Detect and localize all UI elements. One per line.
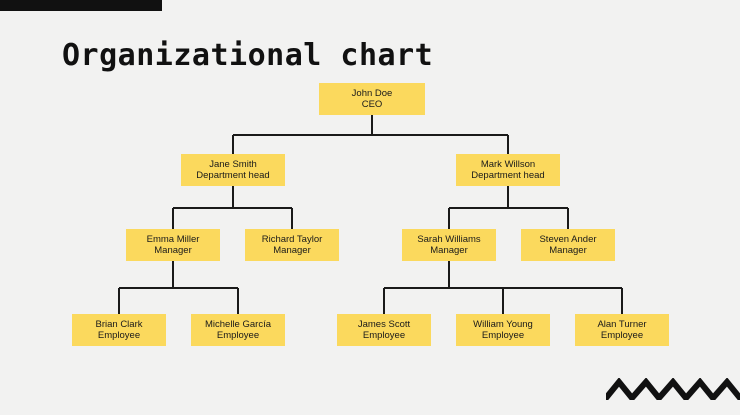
org-node-role: Manager [549,245,587,256]
connector-lines [0,0,740,415]
org-node-name: Sarah Williams [417,234,480,245]
org-node-ceo[interactable]: John DoeCEO [319,83,425,115]
org-node-name: Emma Miller [147,234,200,245]
org-node-role: Manager [154,245,192,256]
org-node-dept-head-left[interactable]: Jane SmithDepartment head [181,154,285,186]
org-node-role: Employee [363,330,405,341]
zigzag-decoration [606,378,740,400]
org-chart: John DoeCEOJane SmithDepartment headMark… [0,0,740,415]
org-node-name: Jane Smith [209,159,257,170]
org-node-employee-5[interactable]: Alan TurnerEmployee [575,314,669,346]
org-node-role: Employee [601,330,643,341]
org-node-manager-1[interactable]: Emma MillerManager [126,229,220,261]
org-node-employee-4[interactable]: William YoungEmployee [456,314,550,346]
org-node-dept-head-right[interactable]: Mark WillsonDepartment head [456,154,560,186]
org-node-role: Department head [196,170,269,181]
org-node-role: Manager [273,245,311,256]
org-node-name: Richard Taylor [262,234,323,245]
org-node-role: CEO [362,99,383,110]
slide-canvas: Organizational chart John DoeCEOJane Smi… [0,0,740,415]
org-node-role: Employee [217,330,259,341]
org-node-employee-2[interactable]: Michelle GarcíaEmployee [191,314,285,346]
org-node-name: Michelle García [205,319,271,330]
org-node-employee-1[interactable]: Brian ClarkEmployee [72,314,166,346]
org-node-name: Alan Turner [597,319,646,330]
org-node-name: Brian Clark [96,319,143,330]
org-node-name: Steven Ander [539,234,596,245]
org-node-name: William Young [473,319,533,330]
org-node-name: John Doe [352,88,393,99]
org-node-employee-3[interactable]: James ScottEmployee [337,314,431,346]
org-node-name: Mark Willson [481,159,535,170]
org-node-manager-3[interactable]: Sarah WilliamsManager [402,229,496,261]
org-node-role: Employee [98,330,140,341]
org-node-role: Department head [471,170,544,181]
org-node-role: Manager [430,245,468,256]
org-node-manager-2[interactable]: Richard TaylorManager [245,229,339,261]
org-node-name: James Scott [358,319,410,330]
org-node-manager-4[interactable]: Steven AnderManager [521,229,615,261]
org-node-role: Employee [482,330,524,341]
